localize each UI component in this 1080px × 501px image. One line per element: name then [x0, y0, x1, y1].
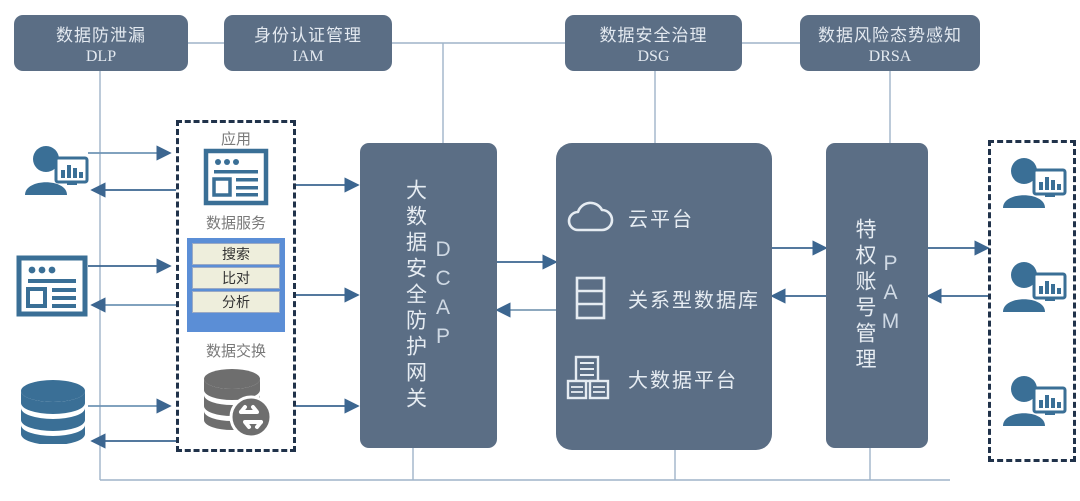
- service-item-compare[interactable]: 比对: [192, 267, 280, 289]
- module-iam-cn: 身份认证管理: [254, 21, 362, 46]
- big-data-icon: [566, 355, 614, 401]
- user-monitor-icon: [998, 152, 1068, 214]
- module-dlp-en: DLP: [86, 48, 116, 66]
- data-service-box: 搜索 比对 分析: [187, 238, 285, 332]
- cloud-icon: [566, 200, 614, 234]
- database-icon: [16, 378, 90, 444]
- platform-row-bigdata[interactable]: 大数据平台: [566, 355, 738, 401]
- user-chart-icon: [20, 140, 90, 200]
- database-stack-icon: [566, 275, 614, 321]
- platform-row-rdbms[interactable]: 关系型数据库: [566, 275, 760, 321]
- browser-window-icon: [203, 148, 269, 206]
- module-dlp-cn: 数据防泄漏: [56, 21, 146, 46]
- dcap-en: DCAP: [432, 238, 454, 354]
- service-item-analysis[interactable]: 分析: [192, 291, 280, 313]
- pam-en: PAM: [879, 252, 901, 339]
- user-monitor-icon: [998, 370, 1068, 432]
- service-item-search[interactable]: 搜索: [192, 243, 280, 265]
- browser-window-icon: [16, 255, 88, 317]
- data-exchange-label: 数据交换: [176, 340, 296, 361]
- module-dsg-cn: 数据安全治理: [600, 21, 708, 46]
- module-iam-en: IAM: [292, 48, 323, 66]
- module-iam[interactable]: 身份认证管理 IAM: [224, 15, 392, 71]
- platform-label-bigdata: 大数据平台: [628, 364, 738, 393]
- module-drsa-en: DRSA: [869, 48, 912, 66]
- module-dsg[interactable]: 数据安全治理 DSG: [565, 15, 742, 71]
- platform-label-rdbms: 关系型数据库: [628, 284, 760, 313]
- architecture-diagram: 数据防泄漏 DLP 身份认证管理 IAM 数据安全治理 DSG 数据风险态势感知…: [0, 0, 1080, 501]
- data-service-label: 数据服务: [176, 212, 296, 233]
- database-exchange-icon: [199, 365, 275, 439]
- module-dsg-en: DSG: [637, 48, 669, 66]
- module-drsa-cn: 数据风险态势感知: [818, 21, 962, 46]
- user-monitor-icon: [998, 256, 1068, 318]
- dcap-gateway-box[interactable]: 大数据安全防护网关 DCAP: [360, 143, 497, 448]
- pam-cn: 特权账号管理: [853, 218, 875, 374]
- pam-box[interactable]: 特权账号管理 PAM: [826, 143, 928, 448]
- module-drsa[interactable]: 数据风险态势感知 DRSA: [800, 15, 980, 71]
- module-dlp[interactable]: 数据防泄漏 DLP: [14, 15, 188, 71]
- platform-label-cloud: 云平台: [628, 203, 694, 232]
- platform-row-cloud[interactable]: 云平台: [566, 200, 694, 234]
- app-label: 应用: [176, 128, 296, 149]
- dcap-cn: 大数据安全防护网关: [403, 179, 425, 413]
